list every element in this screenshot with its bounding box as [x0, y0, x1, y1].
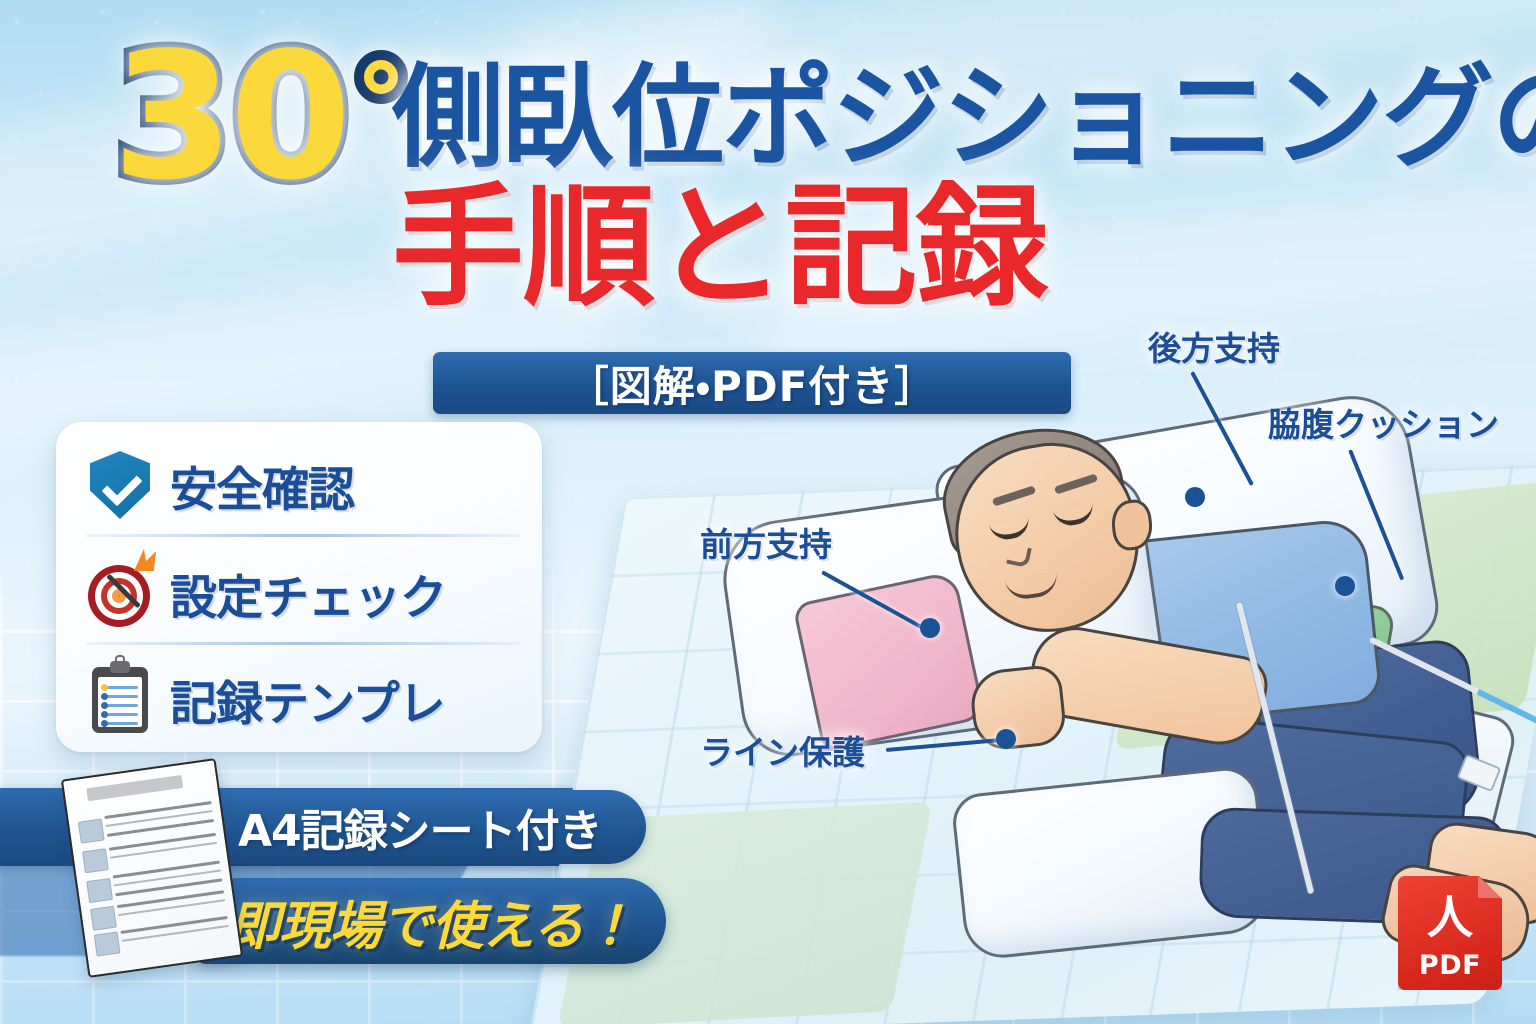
callout-label: 前方支持: [700, 518, 832, 566]
feature-divider: [86, 534, 520, 537]
callout-label: ライン保護: [700, 726, 865, 774]
pdf-included-badge: ［図解・PDF付き］: [433, 352, 1071, 414]
pdf-file-badge[interactable]: 人 PDF: [1398, 876, 1502, 990]
poster-canvas: 後方支持 脇腹クッション 前方支持 ライン保護 30 側臥位ポジショニングの 手…: [0, 0, 1536, 1024]
a4-sheet-banner-label: A4記録シート付き: [238, 795, 602, 859]
feature-card: 安全確認 設定チェック: [56, 422, 542, 752]
positioning-illustration: [560, 380, 1536, 1024]
a4-sheet-banner: A4記録シート付き: [196, 790, 646, 864]
callout-front-support: 前方支持: [700, 518, 832, 566]
feature-item-record-template[interactable]: 記録テンプレ: [84, 656, 524, 742]
pdf-included-badge-label: ［図解・PDF付き］: [567, 353, 938, 414]
headline-line-1: 側臥位ポジショニングの: [392, 62, 1536, 174]
degree-badge: 30: [112, 36, 408, 201]
target-arrow-icon: [84, 557, 156, 629]
shield-check-icon: [84, 449, 156, 521]
feature-item-setup-check[interactable]: 設定チェック: [84, 550, 524, 636]
degree-number: 30: [112, 36, 348, 201]
feature-label: 記録テンプレ: [170, 665, 445, 734]
feature-item-safety[interactable]: 安全確認: [84, 442, 524, 528]
cta-banner-label: 即現場で使える！: [228, 884, 634, 959]
callout-dot-front: [920, 618, 940, 638]
feature-label: 設定チェック: [170, 559, 446, 628]
cta-banner[interactable]: 即現場で使える！: [196, 878, 666, 964]
headline-block: 30 側臥位ポジショニングの 手順と記録 ［図解・PDF付き］: [0, 0, 1536, 430]
callout-line-protection: ライン保護: [700, 726, 865, 774]
callout-dot-rear: [1185, 487, 1205, 507]
pdf-badge-label: PDF: [1398, 950, 1502, 981]
callout-dot-line: [996, 729, 1016, 749]
clipboard-icon: [84, 663, 156, 735]
feature-divider: [86, 642, 520, 645]
feature-label: 安全確認: [170, 451, 354, 520]
pdf-glyph: 人: [1414, 890, 1486, 944]
callout-dot-flank: [1335, 576, 1355, 596]
headline-line-2: 手順と記録: [392, 182, 1047, 314]
a4-checklist-sheet-icon: [61, 758, 243, 978]
